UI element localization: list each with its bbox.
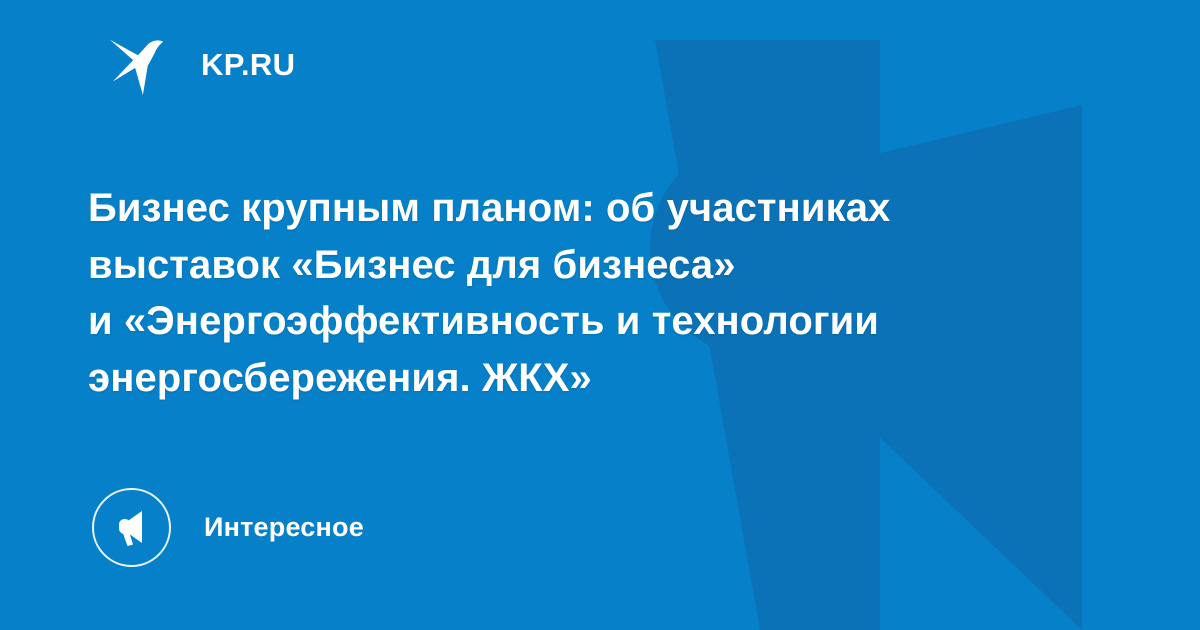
- headline: Бизнес крупным планом: об участниках выс…: [88, 180, 1098, 406]
- headline-line-3: и «Энергоэффективность и технологии: [88, 293, 1098, 350]
- rubric-label: Интересное: [204, 514, 364, 541]
- brand-name-label: KP.RU: [201, 49, 295, 80]
- rubric-tag[interactable]: Интересное: [92, 480, 364, 574]
- brand-logo[interactable]: KP.RU: [108, 33, 295, 95]
- megaphone-icon: [111, 506, 153, 548]
- headline-line-2: выставок «Бизнес для бизнеса»: [88, 237, 1098, 294]
- headline-line-1: Бизнес крупным планом: об участниках: [88, 180, 1098, 237]
- swallow-bird-icon: [108, 33, 170, 95]
- headline-line-4: энергосбережения. ЖКХ»: [88, 350, 1098, 407]
- rubric-icon-badge: [92, 488, 171, 567]
- article-share-card: KP.RU Бизнес крупным планом: об участник…: [0, 0, 1200, 630]
